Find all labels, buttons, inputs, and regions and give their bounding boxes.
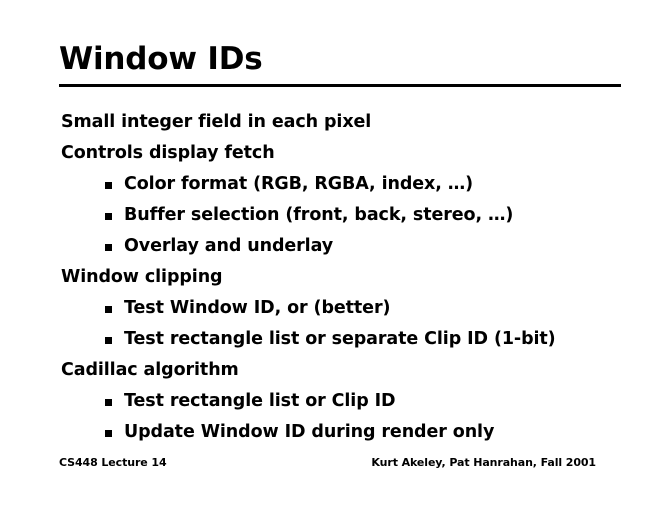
filled-square-bullet-icon <box>105 399 112 406</box>
slide-canvas: Window IDs Small integer field in each p… <box>0 0 660 510</box>
outline-item-level2: Color format (RGB, RGBA, index, …) <box>0 169 660 200</box>
outline-item-level2: Buffer selection (front, back, stereo, …… <box>0 200 660 231</box>
outline-item-level1: Small integer field in each pixel <box>0 107 660 138</box>
filled-square-bullet-icon <box>105 182 112 189</box>
filled-square-bullet-icon <box>105 337 112 344</box>
slide-footer: CS448 Lecture 14 Kurt Akeley, Pat Hanrah… <box>59 456 596 469</box>
slide-title: Window IDs <box>59 42 263 76</box>
title-divider-rule <box>59 84 621 87</box>
outline-item-label: Test Window ID, or (better) <box>124 298 390 318</box>
outline-item-label: Small integer field in each pixel <box>61 112 371 132</box>
filled-square-bullet-icon <box>105 244 112 251</box>
outline-item-label: Buffer selection (front, back, stereo, …… <box>124 205 513 225</box>
outline-item-label: Cadillac algorithm <box>61 360 239 380</box>
outline-item-level1: Window clipping <box>0 262 660 293</box>
outline-item-label: Overlay and underlay <box>124 236 333 256</box>
outline-item-level2: Test rectangle list or separate Clip ID … <box>0 324 660 355</box>
filled-square-bullet-icon <box>105 430 112 437</box>
footer-authors-label: Kurt Akeley, Pat Hanrahan, Fall 2001 <box>371 456 596 469</box>
outline-item-label: Controls display fetch <box>61 143 275 163</box>
outline-item-level2: Update Window ID during render only <box>0 417 660 448</box>
outline-item-label: Update Window ID during render only <box>124 422 494 442</box>
slide-body-outline: Small integer field in each pixelControl… <box>0 107 660 448</box>
outline-item-label: Color format (RGB, RGBA, index, …) <box>124 174 473 194</box>
outline-item-level2: Overlay and underlay <box>0 231 660 262</box>
outline-item-label: Window clipping <box>61 267 222 287</box>
filled-square-bullet-icon <box>105 306 112 313</box>
outline-item-label: Test rectangle list or Clip ID <box>124 391 395 411</box>
outline-item-label: Test rectangle list or separate Clip ID … <box>124 329 556 349</box>
outline-item-level1: Controls display fetch <box>0 138 660 169</box>
filled-square-bullet-icon <box>105 213 112 220</box>
footer-course-label: CS448 Lecture 14 <box>59 456 167 469</box>
outline-item-level2: Test Window ID, or (better) <box>0 293 660 324</box>
outline-item-level1: Cadillac algorithm <box>0 355 660 386</box>
outline-item-level2: Test rectangle list or Clip ID <box>0 386 660 417</box>
